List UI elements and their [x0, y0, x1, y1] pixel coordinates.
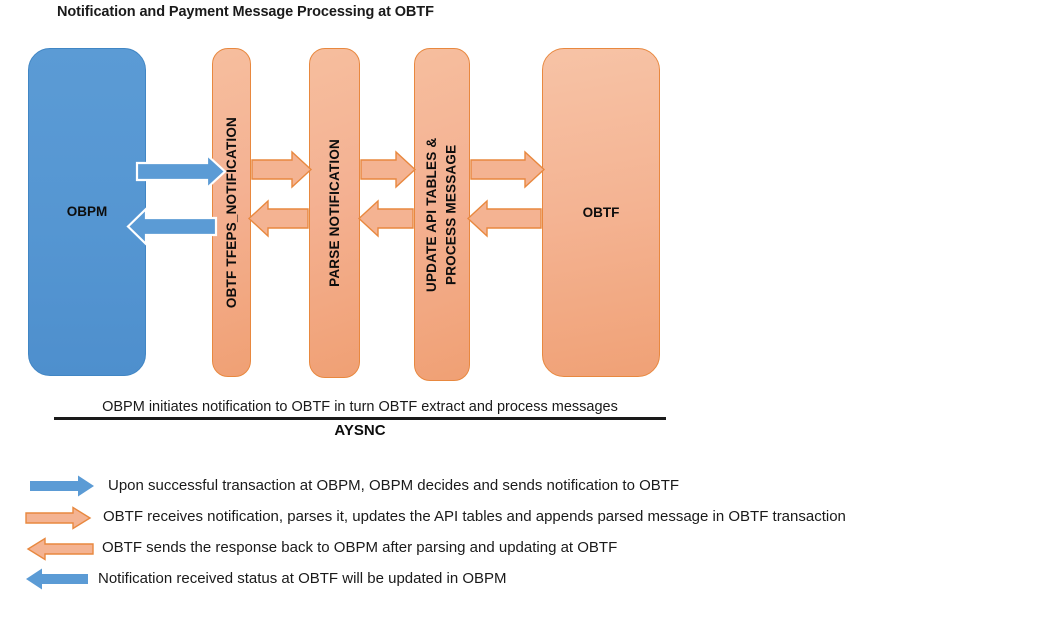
node-obtf-label: OBTF	[583, 205, 620, 221]
page-title: Notification and Payment Message Process…	[57, 4, 434, 20]
node-update-api-tables[interactable]: UPDATE API TABLES & PROCESS MESSAGE	[414, 48, 470, 381]
caption-underline	[54, 417, 666, 420]
legend-item-2-text: OBTF receives notification, parses it, u…	[103, 508, 846, 526]
legend-item-4: Notification received status at OBTF wil…	[0, 563, 1045, 594]
caption-line: OBPM initiates notification to OBTF in t…	[54, 398, 666, 416]
flow-parse-to-tfeps	[249, 201, 308, 236]
node-obtf[interactable]: OBTF	[542, 48, 660, 377]
legend-item-1: Upon successful transaction at OBPM, OBP…	[0, 470, 1045, 501]
arrow-left-orange-icon	[22, 537, 94, 559]
flow-obtf-to-update	[468, 201, 541, 236]
node-obtf-tfeps-notification-label: OBTF TFEPS_NOTIFICATION	[224, 117, 240, 308]
flow-parse-to-update	[361, 152, 415, 187]
node-update-api-tables-label-line2: PROCESS MESSAGE	[444, 144, 459, 284]
legend-item-3-text: OBTF sends the response back to OBPM aft…	[102, 539, 617, 557]
arrow-left-blue-icon	[18, 568, 90, 590]
node-obtf-tfeps-notification[interactable]: OBTF TFEPS_NOTIFICATION	[212, 48, 251, 377]
node-update-api-tables-label-line1: UPDATE API TABLES &	[424, 137, 439, 291]
flow-update-to-parse	[359, 201, 413, 236]
diagram-canvas: Notification and Payment Message Process…	[0, 0, 1045, 634]
node-update-api-tables-label: UPDATE API TABLES & PROCESS MESSAGE	[422, 85, 461, 345]
legend-item-3: OBTF sends the response back to OBPM aft…	[0, 532, 1045, 563]
node-parse-notification[interactable]: PARSE NOTIFICATION	[309, 48, 360, 378]
arrow-right-orange-icon	[25, 506, 97, 528]
flow-update-to-obtf	[471, 152, 544, 187]
node-obpm-label: OBPM	[67, 204, 108, 220]
legend-item-2: OBTF receives notification, parses it, u…	[0, 501, 1045, 532]
legend: Upon successful transaction at OBPM, OBP…	[0, 470, 1045, 594]
arrow-right-blue-icon	[30, 475, 102, 497]
legend-item-4-text: Notification received status at OBTF wil…	[98, 570, 507, 588]
caption-block: OBPM initiates notification to OBTF in t…	[54, 398, 666, 440]
flow-tfeps-to-parse	[252, 152, 311, 187]
legend-item-1-text: Upon successful transaction at OBPM, OBP…	[108, 477, 679, 495]
node-parse-notification-label: PARSE NOTIFICATION	[327, 139, 343, 287]
caption-sub-label: AYSNC	[54, 422, 666, 440]
node-obpm[interactable]: OBPM	[28, 48, 146, 376]
